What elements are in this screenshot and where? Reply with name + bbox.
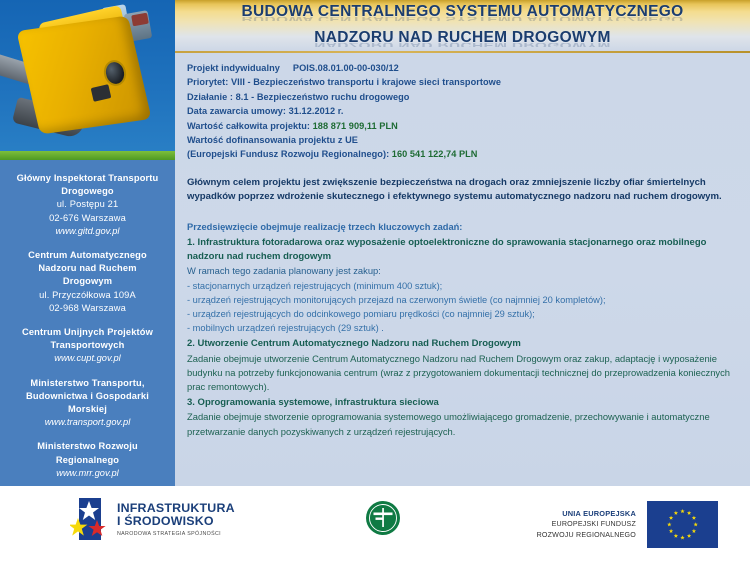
- gitd-emblem-icon: [365, 500, 401, 536]
- organization-url[interactable]: www.gitd.gov.pl: [8, 225, 167, 238]
- poster-root: BUDOWA CENTRALNEGO SYSTEMU AUTOMATYCZNEG…: [0, 0, 750, 563]
- organization-address-line: ul. Przyczółkowa 109A: [8, 289, 167, 302]
- photo-grass-strip: [0, 151, 175, 160]
- program-logo-text: INFRASTRUKTURA I ŚRODOWISKO NARODOWA STR…: [117, 502, 235, 537]
- task-block: 2. Utworzenie Centrum Automatycznego Nad…: [187, 337, 736, 394]
- organization-list: Główny Inspektorat TransportuDrogowegoul…: [8, 172, 167, 480]
- eu-logo-line-2: EUROPEJSKI FUNDUSZ: [537, 519, 636, 529]
- program-logo-line-2: I ŚRODOWISKO: [117, 515, 235, 529]
- organization-entry: Ministerstwo RozwojuRegionalnegowww.mrr.…: [8, 440, 167, 480]
- organization-url[interactable]: www.cupt.gov.pl: [8, 352, 167, 365]
- organization-entry: Centrum AutomatycznegoNadzoru nad Ruchem…: [8, 249, 167, 315]
- camera-housing: [16, 16, 151, 135]
- task-description: Zadanie obejmuje stworzenie oprogramowan…: [187, 410, 736, 438]
- eu-logo-line-1: UNIA EUROPEJSKA: [537, 509, 636, 520]
- task-description: Zadanie obejmuje utworzenie Centrum Auto…: [187, 352, 736, 395]
- organization-name-line: Morskiej: [8, 403, 167, 416]
- organization-name-line: Nadzoru nad Ruchem: [8, 262, 167, 275]
- four-stars-icon: [70, 498, 108, 540]
- project-code: POIS.08.01.00-00-030/12: [293, 63, 399, 73]
- project-goal-paragraph: Głównym celem projektu jest zwiększenie …: [187, 176, 736, 205]
- page-title: BUDOWA CENTRALNEGO SYSTEMU AUTOMATYCZNEG…: [175, 3, 750, 51]
- organization-entry: Główny Inspektorat TransportuDrogowegoul…: [8, 172, 167, 238]
- project-type-label: Projekt indywidualny: [187, 63, 280, 73]
- eu-logo-line-3: ROZWOJU REGIONALNEGO: [537, 530, 636, 540]
- title-line-1-reflection: BUDOWA CENTRALNEGO SYSTEMU AUTOMATYCZNEG…: [175, 17, 750, 21]
- organization-address-line: 02-968 Warszawa: [8, 302, 167, 315]
- task-bullet: - mobilnych urządzeń rejestrujących (29 …: [187, 321, 736, 335]
- task-block: 1. Infrastruktura fotoradarowa oraz wypo…: [187, 236, 736, 335]
- task-heading: 2. Utworzenie Centrum Automatycznego Nad…: [187, 337, 736, 351]
- eu-value-amount: 160 541 122,74 PLN: [392, 149, 478, 159]
- organization-name-line: Drogowego: [8, 185, 167, 198]
- task-block: 3. Oprogramowania systemowe, infrastrukt…: [187, 396, 736, 439]
- organization-name-line: Ministerstwo Transportu,: [8, 377, 167, 390]
- program-logo-line-1: INFRASTRUKTURA: [117, 502, 235, 516]
- organization-url[interactable]: www.transport.gov.pl: [8, 416, 167, 429]
- organization-name-line: Transportowych: [8, 339, 167, 352]
- tasks-intro-label: Przedsięwzięcie obejmuje realizację trze…: [187, 220, 736, 234]
- organization-name-line: Główny Inspektorat Transportu: [8, 172, 167, 185]
- task-bullet: - urządzeń rejestrujących monitorujących…: [187, 293, 736, 307]
- priority-row: Priorytet: VIII - Bezpieczeństwo transpo…: [187, 75, 736, 89]
- eu-flag-icon: [647, 501, 718, 548]
- footer-logos: INFRASTRUKTURA I ŚRODOWISKO NARODOWA STR…: [0, 486, 750, 563]
- organization-name-line: Regionalnego: [8, 454, 167, 467]
- organization-name-line: Drogowym: [8, 275, 167, 288]
- organization-entry: Centrum Unijnych ProjektówTransportowych…: [8, 326, 167, 366]
- eu-logo-text: UNIA EUROPEJSKA EUROPEJSKI FUNDUSZ ROZWO…: [537, 509, 636, 540]
- eu-value-label-row-1: Wartość dofinansowania projektu z UE: [187, 133, 736, 147]
- sidebar-contacts: Główny Inspektorat TransportuDrogowegoul…: [0, 160, 175, 486]
- organization-entry: Ministerstwo Transportu,Budownictwa i Go…: [8, 377, 167, 430]
- total-value-amount: 188 871 909,11 PLN: [313, 121, 398, 131]
- eu-logo: UNIA EUROPEJSKA EUROPEJSKI FUNDUSZ ROZWO…: [537, 501, 718, 548]
- organization-name-line: Centrum Unijnych Projektów: [8, 326, 167, 339]
- organization-address-line: 02-676 Warszawa: [8, 212, 167, 225]
- action-row: Działanie : 8.1 - Bezpieczeństwo ruchu d…: [187, 90, 736, 104]
- title-line-2-reflection: NADZORU NAD RUCHEM DROGOWYM: [175, 43, 750, 47]
- organization-name-line: Centrum Automatycznego: [8, 249, 167, 262]
- organization-address-line: ul. Postępu 21: [8, 198, 167, 211]
- organization-name-line: Budownictwa i Gospodarki: [8, 390, 167, 403]
- organization-name-line: Ministerstwo Rozwoju: [8, 440, 167, 453]
- task-intro: W ramach tego zadania planowany jest zak…: [187, 264, 736, 278]
- total-value-label: Wartość całkowita projektu:: [187, 121, 310, 131]
- project-type-row: Projekt indywidualny POIS.08.01.00-00-03…: [187, 61, 736, 75]
- task-bullet: - stacjonarnych urządzeń rejestrujących …: [187, 279, 736, 293]
- total-value-row: Wartość całkowita projektu: 188 871 909,…: [187, 119, 736, 133]
- task-bullet: - urządzeń rejestrujących do odcinkowego…: [187, 307, 736, 321]
- eu-value-row-2: (Europejski Fundusz Rozwoju Regionalnego…: [187, 147, 736, 161]
- program-logo: INFRASTRUKTURA I ŚRODOWISKO NARODOWA STR…: [70, 498, 235, 540]
- main-content: Projekt indywidualny POIS.08.01.00-00-03…: [175, 53, 750, 486]
- program-logo-subtitle: NARODOWA STRATEGIA SPÓJNOŚCI: [117, 531, 235, 537]
- task-heading: 3. Oprogramowania systemowe, infrastrukt…: [187, 396, 736, 410]
- contract-date-row: Data zawarcia umowy: 31.12.2012 r.: [187, 104, 736, 118]
- task-heading: 1. Infrastruktura fotoradarowa oraz wypo…: [187, 236, 736, 264]
- organization-url[interactable]: www.mrr.gov.pl: [8, 467, 167, 480]
- speed-camera-photo: [0, 0, 175, 160]
- eu-value-label: (Europejski Fundusz Rozwoju Regionalnego…: [187, 149, 389, 159]
- task-list: 1. Infrastruktura fotoradarowa oraz wypo…: [187, 236, 736, 439]
